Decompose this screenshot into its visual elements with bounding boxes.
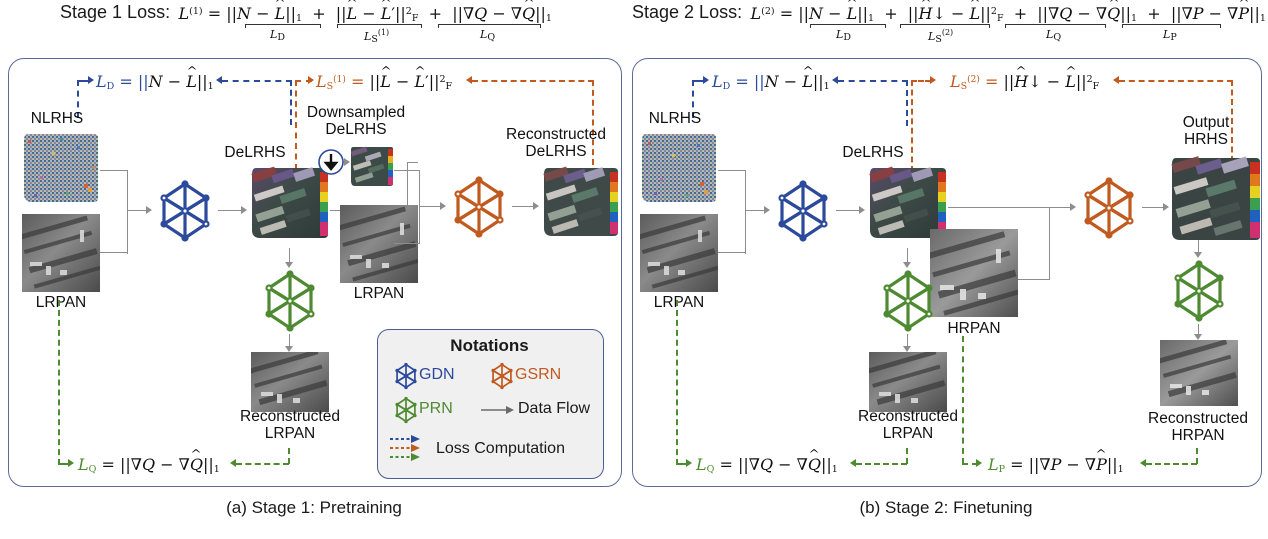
arrow-blue-right [88,76,94,84]
arrow-green-left-s2 [850,459,856,467]
label-lrpan-stage1: LRPAN [24,294,98,311]
legend-loss-arrows-icon [390,434,422,464]
brace-lq-2 [1005,24,1106,25]
flow-delrhs-right-s2 [948,207,1050,208]
arrow-to-delrhs-s2 [859,206,865,214]
image-delrhs-stage1 [250,166,330,246]
label-downsampled-line1: Downsampled [307,104,405,121]
brace-tick [1005,24,1006,28]
loss-flow-green-h2-s2 [856,463,907,465]
label-recon-lrpan1-l2: LRPAN [265,425,316,442]
image-downsampled-delrhs [350,146,394,190]
label-reconstructed-lrpan-stage1: Reconstructed LRPAN [228,408,352,442]
image-reconstructed-hrpan [1160,340,1238,406]
label-recon-delrhs-l2: DeLRHS [525,143,586,160]
legend-prn-icon [392,396,420,424]
flow-to-downsample [407,162,418,163]
brace-lp-2 [1122,24,1221,25]
arrow-orange-left-s2 [1113,76,1119,84]
arrow-to-output-hrhs [1163,203,1169,211]
stage2-loss-d-equation: LD = ||N − L||1 [712,72,830,92]
image-reconstructed-lrpan-stage1 [251,352,329,412]
arrow-green-right-s2 [686,459,692,467]
brace-tick [885,24,886,28]
brace-label-lq-1: LQ [480,28,495,43]
stage1-loss-prefix: Stage 1 Loss: [60,2,170,22]
brace-label-ld-1: LD [270,28,285,43]
loss-flow-blue-v2-s2 [906,80,908,126]
image-nlrhs-stage2 [640,132,718,210]
legend-loss-computation-label: Loss Computation [436,440,565,458]
flow-gdn-out [218,210,242,211]
arrow-to-delrhs [241,206,247,214]
loss-flow-green-v1-s2 [676,300,678,465]
flow-lrpan2-to-merge [394,243,420,244]
brace-ls-2 [900,24,990,25]
label-recon-delrhs-l1: Reconstructed [506,126,606,143]
brace-tick [1122,24,1123,28]
stage2-loss-p-equation: LP = ||∇P − ∇P||1 [988,455,1124,475]
loss-flow-green-h4-s2 [1146,463,1197,465]
label-delrhs-stage1: DeLRHS [215,144,295,161]
loss-flow-green-v2-s2 [906,448,908,464]
arrow-orange-right-s2 [930,76,936,84]
loss-flow-green-v1-s1 [58,300,60,465]
brace-label-ls-2: LS(2) [928,28,953,45]
loss-flow-blue-v2 [290,80,292,125]
stage2-loss-q-equation: LQ = ||∇Q − ∇Q||1 [696,455,838,475]
legend-data-flow-arrow-icon [481,404,515,416]
flow-ds-to-merge-h [394,170,420,171]
brace-tick [337,24,338,28]
label-output-hrhs: Output HRHS [1152,114,1260,148]
flow-merge2-out-s2 [1049,207,1071,208]
caption-stage2: (b) Stage 2: Finetuning [632,498,1260,518]
loss-flow-green-v3-s2 [962,336,964,464]
stage1-loss-q-equation: LQ = ||∇Q − ∇Q||1 [78,455,220,475]
arrow-green-right2-s2 [976,459,982,467]
legend-title: Notations [377,336,602,356]
label-recon-hrpan-l1: Reconstructed [1148,410,1248,427]
label-lrpan2-stage1: LRPAN [342,285,416,302]
image-hrpan-stage2 [930,229,1018,317]
gdn-network-icon-stage1 [152,178,218,244]
loss-flow-blue-h2 [222,80,292,82]
flow-hrpan-up-s2 [1049,207,1050,280]
stage1-loss-header: Stage 1 Loss: L(1) = ||N − L||1 + ||L − … [60,2,548,23]
legend-prn-label: PRN [419,400,453,418]
legend-data-flow-label: Data Flow [518,400,590,418]
loss-flow-blue-h2-s2 [838,80,908,82]
gsrn-network-icon-stage2 [1076,175,1142,241]
label-delrhs-stage2: DeLRHS [833,144,913,161]
flow-merge-v [127,170,128,254]
arrow-to-recon-delrhs [533,202,539,210]
stage2-loss-header: Stage 2 Loss: L(2) = ||N − L||1 + ||H↓ −… [632,2,1262,23]
label-recon-lrpan1-l1: Reconstructed [240,408,340,425]
brace-lq-1 [438,24,541,25]
brace-label-lq-2: LQ [1046,28,1061,43]
image-lrpan-stage1 [22,214,100,292]
label-nlrhs-stage2: NLRHS [638,110,712,127]
arrow-blue-left [216,76,222,84]
label-output-hrhs-l1: Output [1183,114,1230,131]
brace-label-lp-2: LP [1163,28,1177,43]
legend-gsrn-icon [488,362,516,390]
label-hrpan-stage2: HRPAN [937,320,1011,337]
loss-flow-orange-h2 [472,80,594,82]
flow-nlrhs-line-s2 [718,170,746,171]
image-reconstructed-lrpan-stage2 [869,352,947,412]
label-output-hrhs-l2: HRHS [1184,131,1228,148]
image-nlrhs-stage1 [22,132,100,210]
arrow-green-right-s1 [68,459,74,467]
prn-network-icon-stage2-left [875,268,941,334]
arrow-green-left-s1 [230,459,236,467]
label-lrpan-stage2: LRPAN [642,294,716,311]
flow-merge-h [127,210,147,211]
stage2-loss-s-equation: LS(2) = ||H↓ − L||2F [950,72,1099,92]
brace-tick [320,24,321,28]
loss-flow-green-v4-s2 [1196,448,1198,464]
brace-tick [421,24,422,28]
flow-nlrhs-line [100,170,128,171]
brace-tick [989,24,990,28]
stage1-loss-s-equation: LS(1) = ||L − L′||2F [316,72,452,92]
downsample-icon-stage1 [316,147,346,177]
brace-ls-1 [337,24,422,25]
flow-gsrn-out-s2 [1142,207,1164,208]
flow-merge-v-s2 [745,170,746,254]
brace-tick [900,24,901,28]
prn-network-icon-stage1 [257,268,323,334]
image-output-hrhs [1170,156,1262,248]
prn-network-icon-stage2-right [1166,258,1232,324]
brace-ld-2 [810,24,886,25]
flow-hrpan-in-s2 [1018,279,1050,280]
label-reconstructed-delrhs: Reconstructed DeLRHS [494,126,618,160]
legend-gsrn-label: GSRN [515,366,561,384]
arrow-green-left2-s2 [1140,459,1146,467]
image-lrpan-stage2 [640,214,718,292]
legend-gdn-label: GDN [419,366,455,384]
arrow-blue-left-s2 [832,76,838,84]
flow-gdn-out-s2 [836,210,860,211]
flow-lrpan-line [100,252,128,253]
stage1-loss-d-equation: LD = ||N − L||1 [96,72,214,92]
flow-lrpan-line-s2 [718,252,746,253]
brace-tick [810,24,811,28]
arrow-into-downsampled [344,158,350,166]
brace-tick [540,24,541,28]
loss-flow-green-v2-s1 [288,448,290,464]
brace-ld-1 [245,24,321,25]
arrow-blue-right-s2 [703,76,709,84]
brace-tick [1220,24,1221,28]
gsrn-network-icon-stage1 [446,174,512,240]
label-reconstructed-lrpan-stage2: Reconstructed LRPAN [846,408,970,442]
arrow-orange-right [308,76,314,84]
brace-tick [245,24,246,28]
loss-flow-orange-h2-s2 [1119,80,1233,82]
brace-label-ls-1: LS(1) [364,28,389,45]
label-recon-lrpan2-l2: LRPAN [883,425,934,442]
legend-gdn-icon [392,362,420,390]
gdn-network-icon-stage2 [770,178,836,244]
label-downsampled-delrhs: Downsampled DeLRHS [296,104,416,138]
label-recon-hrpan-l2: HRPAN [1171,427,1224,444]
loss-flow-orange-h1-s2 [911,80,931,82]
label-reconstructed-hrpan: Reconstructed HRPAN [1136,410,1260,444]
brace-label-ld-2: LD [836,28,851,43]
label-downsampled-line2: DeLRHS [325,121,386,138]
label-nlrhs-stage1: NLRHS [20,110,94,127]
image-reconstructed-delrhs [542,166,620,244]
brace-tick [1105,24,1106,28]
stage2-loss-prefix: Stage 2 Loss: [632,2,742,22]
flow-merge2-out [419,206,441,207]
flow-merge-h-s2 [745,210,765,211]
flow-gsrn-out [512,206,534,207]
label-recon-lrpan2-l1: Reconstructed [858,408,958,425]
brace-tick [438,24,439,28]
loss-flow-green-h2-s1 [236,463,289,465]
arrow-orange-left [466,76,472,84]
caption-stage1: (a) Stage 1: Pretraining [8,498,620,518]
